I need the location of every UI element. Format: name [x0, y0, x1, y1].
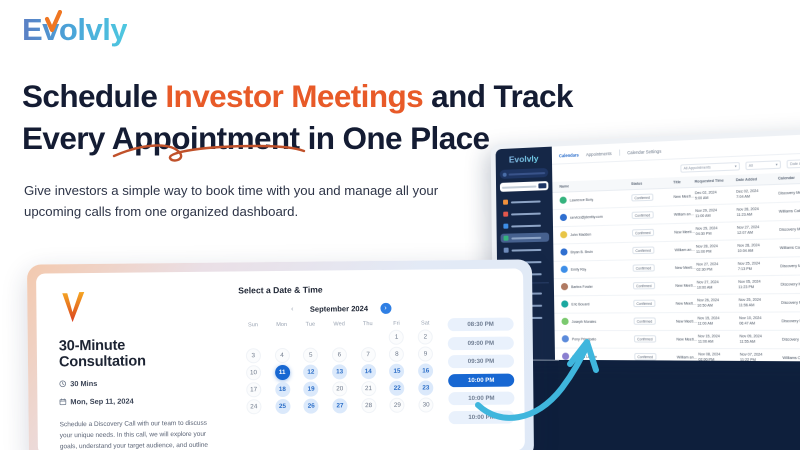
- calendar-day-16[interactable]: 16: [418, 363, 433, 378]
- sidebar-item-calendars[interactable]: [501, 233, 550, 243]
- evolvly-v-mark-icon: [58, 290, 88, 326]
- chevron-down-icon: ▾: [776, 163, 778, 167]
- chevron-right-icon[interactable]: ›: [380, 303, 391, 314]
- status-badge: Confirmed: [632, 212, 654, 220]
- tab-divider: [619, 150, 620, 156]
- cell-status: Confirmed: [634, 353, 677, 361]
- avatar: [560, 231, 567, 238]
- sidebar-item-launchpad[interactable]: [500, 196, 549, 207]
- requested-time: 11:00 PM: [696, 249, 738, 255]
- weekday-label-fri: Fri: [382, 321, 411, 327]
- tab-appointments[interactable]: Appointments: [586, 150, 612, 156]
- cell-name: Bryan B. Bruin: [560, 247, 632, 256]
- calendar-widget: ‹ September 2024 › SunMonTueWedThuFriSat…: [238, 302, 441, 450]
- chevron-left-icon[interactable]: ‹: [287, 304, 298, 315]
- calendar-day-22[interactable]: 22: [390, 381, 405, 396]
- cell-requested-time: Nov 29, 202404:30 PM: [696, 226, 738, 237]
- filter-all[interactable]: All▾: [745, 160, 781, 170]
- cell-requested-time: Nov 26, 202410:50 AM: [697, 298, 739, 308]
- cell-date-added: Nov 28, 202411:23 AM: [737, 207, 779, 218]
- cell-title: William and Bryan B. Bruin: [675, 248, 697, 253]
- row-name-label: John Madden: [570, 232, 591, 237]
- cell-calendar: Williams Calendar: [779, 208, 800, 214]
- tab-calendars[interactable]: Calendars: [559, 152, 579, 158]
- calendar-day-7: 7: [361, 347, 376, 362]
- calendar-day-23[interactable]: 23: [418, 380, 433, 395]
- cell-date-added: Nov 10, 202406:47 AM: [739, 316, 782, 326]
- calendar-day-20: 20: [332, 381, 347, 396]
- calendar-day-19[interactable]: 19: [303, 382, 318, 397]
- cell-name: Emily Ray: [561, 265, 633, 273]
- calendar-weekday-header: SunMonTueWedThuFriSat: [239, 320, 440, 328]
- calendar-day-24: 24: [246, 399, 261, 414]
- table-row[interactable]: Eric BouardConfirmedNew Meeting with Eri…: [554, 293, 800, 313]
- tab-calendar-settings[interactable]: Calendar Settings: [627, 148, 661, 155]
- search-placeholder-bar: [502, 185, 537, 188]
- cell-calendar: Williams Calendar: [780, 245, 800, 250]
- calendar-day-3: 3: [246, 348, 261, 363]
- table-row[interactable]: Barbra FowlerConfirmedNew Meeting with B…: [554, 275, 800, 296]
- avatar: [561, 301, 568, 308]
- avatar: [560, 249, 567, 256]
- cell-status: Confirmed: [634, 318, 677, 325]
- cell-status: Confirmed: [633, 300, 676, 308]
- weekday-label-wed: Wed: [325, 321, 354, 327]
- added-time: 7:13 PM: [738, 266, 780, 272]
- sidebar-item-label: [512, 248, 542, 251]
- cell-calendar: Discovery Meeting: [778, 189, 800, 195]
- cell-title: William and Geremia: [674, 212, 696, 217]
- calendar-day-4: 4: [274, 348, 289, 363]
- account-avatar: [503, 172, 507, 176]
- cell-calendar: Williams Calendar: [782, 355, 800, 360]
- requested-time: 10:00 AM: [697, 285, 739, 290]
- requested-time: 04:30 PM: [696, 231, 737, 237]
- added-time: 10:04 AM: [737, 248, 779, 254]
- select-date-time-label: Select a Date & Time: [238, 283, 513, 296]
- column-header-status[interactable]: Status: [631, 180, 673, 186]
- calendar-month-bar: ‹ September 2024 ›: [238, 302, 439, 315]
- calendar-empty-cell: [274, 331, 289, 346]
- dashboard-screenshot: Evolvly CalendarsAppointmentsCalendar Se…: [491, 128, 800, 362]
- cell-status: Confirmed: [633, 282, 675, 290]
- avatar: [561, 283, 568, 290]
- cell-date-added: Nov 05, 202411:23 PM: [738, 279, 781, 289]
- cell-name: Joseph Morales: [561, 318, 633, 325]
- cell-status: Confirmed: [632, 211, 674, 220]
- cell-requested-time: Nov 15, 202411:00 AM: [698, 334, 740, 344]
- sidebar-item-conversations[interactable]: [500, 220, 549, 230]
- calendar-empty-cell: [332, 330, 347, 345]
- cell-calendar: Discovery Meeting: [779, 226, 800, 232]
- calendar-day-21: 21: [361, 381, 376, 396]
- requested-time: 02:30 PM: [696, 267, 738, 273]
- weekday-label-sat: Sat: [411, 320, 440, 326]
- calendar-icon: [504, 236, 509, 241]
- calendar-day-25[interactable]: 25: [275, 399, 290, 414]
- added-time: 11:56 AM: [739, 303, 781, 308]
- column-header-requested-time[interactable]: Requested Time: [695, 178, 736, 184]
- calendar-day-grid: 1234567891011121314151617181920212223242…: [239, 329, 441, 414]
- calendar-day-5: 5: [303, 348, 318, 363]
- filter-label: All Appointments: [684, 165, 711, 170]
- weekday-label-thu: Thu: [353, 321, 382, 327]
- cell-name: John Madden: [560, 230, 632, 239]
- filter-all-appointments[interactable]: All Appointments▾: [680, 162, 740, 173]
- column-header-date-added[interactable]: Date Added: [736, 176, 778, 182]
- row-name-label: service@jdentity.com: [570, 215, 603, 220]
- cell-title: New Meeting with Joseph Morales: [676, 319, 698, 323]
- cell-status: Confirmed: [632, 229, 674, 237]
- cell-title: New Meeting with Lawrence Bony: [673, 194, 694, 199]
- chevron-down-icon: ▾: [735, 164, 737, 168]
- chat-icon: [503, 224, 508, 229]
- calendar-day-26[interactable]: 26: [304, 399, 319, 414]
- calendar-day-15[interactable]: 15: [389, 364, 404, 379]
- account-switcher[interactable]: [500, 168, 549, 179]
- calendar-day-13[interactable]: 13: [332, 364, 347, 379]
- cell-requested-time: Dec 02, 20245:00 AM: [695, 190, 737, 201]
- cell-requested-time: Nov 28, 202411:00 PM: [696, 244, 738, 255]
- filter-date-added[interactable]: Date Added▾: [786, 158, 800, 168]
- booking-date: Mon, Sep 11, 2024: [59, 396, 215, 407]
- search-shortcut-badge: [538, 183, 546, 188]
- cell-requested-time: Nov 29, 202411:00 AM: [695, 208, 737, 219]
- contacts-icon: [504, 248, 509, 253]
- booking-description: Schedule a Discovery Call with our team …: [60, 418, 211, 450]
- status-badge: Confirmed: [631, 194, 653, 202]
- cell-name: Barbra Fowler: [561, 283, 633, 291]
- sidebar-search-input[interactable]: [500, 181, 549, 192]
- calendar-day-11[interactable]: 11: [275, 365, 290, 380]
- underline-swoosh-icon: [108, 140, 308, 166]
- filter-label: All: [749, 164, 753, 168]
- sidebar-item-dashboard[interactable]: [500, 208, 549, 219]
- cell-status: Confirmed: [631, 193, 673, 202]
- requested-time: 11:00 AM: [698, 339, 740, 344]
- avatar: [560, 197, 567, 204]
- calendar-day-10: 10: [246, 365, 261, 380]
- evolvly-logo: Evolvly: [22, 12, 127, 48]
- cell-title: New Meeting with Emily Ray: [675, 265, 697, 270]
- grid-icon: [503, 212, 508, 217]
- column-header-title[interactable]: Title: [673, 180, 694, 185]
- row-name-label: Lawrence Bony: [570, 198, 594, 203]
- calendar-day-18[interactable]: 18: [275, 382, 290, 397]
- calendar-day-2: 2: [418, 329, 433, 344]
- rocket-icon: [503, 200, 508, 205]
- weekday-label-tue: Tue: [296, 322, 325, 328]
- cell-date-added: Nov 07, 202411:22 PM: [740, 352, 783, 361]
- booking-title: 30-Minute Consultation: [59, 337, 215, 371]
- cell-status: Confirmed: [633, 264, 675, 272]
- status-badge: Confirmed: [633, 265, 655, 273]
- curved-arrow-up-right-icon: [470, 330, 640, 450]
- row-name-label: Joseph Morales: [572, 319, 597, 323]
- cell-requested-time: Nov 27, 202410:00 AM: [697, 280, 739, 290]
- cell-date-added: Nov 25, 202411:56 AM: [739, 298, 782, 308]
- added-time: 11:22 PM: [740, 357, 783, 361]
- dashboard-main: CalendarsAppointmentsCalendar Settings A…: [552, 133, 800, 362]
- avatar: [561, 266, 568, 273]
- cell-calendar: Discovery Meeting: [781, 300, 800, 305]
- added-time: 11:23 AM: [737, 212, 779, 218]
- row-name-label: Barbra Fowler: [571, 285, 593, 289]
- headline-part1: Schedule: [22, 78, 165, 114]
- cell-date-added: Nov 09, 202411:55 AM: [739, 334, 782, 344]
- sidebar-item-label: [511, 212, 541, 215]
- row-name-label: Eric Bouard: [571, 302, 589, 306]
- requested-time: 11:00 AM: [695, 213, 736, 219]
- added-time: 11:55 AM: [740, 339, 783, 344]
- cell-calendar: Discovery Meeting: [780, 263, 800, 268]
- cell-title: New Meeting with Barbra Fowler: [675, 283, 697, 287]
- cell-calendar: Discovery Meeting: [781, 281, 800, 286]
- booking-details-pane: 30-Minute Consultation 30 Mins Mon, Sep …: [36, 272, 232, 450]
- cell-requested-time: Nov 08, 202402:00 PM: [698, 352, 740, 361]
- avatar: [560, 214, 567, 221]
- avatar: [561, 318, 568, 325]
- calendar-day-27[interactable]: 27: [332, 398, 347, 413]
- calendar-empty-cell: [360, 330, 375, 345]
- filter-label: Date Added: [790, 161, 800, 166]
- status-badge: Confirmed: [632, 247, 654, 255]
- cell-date-added: Nov 28, 202410:04 AM: [737, 243, 779, 254]
- calendar-day-8: 8: [389, 347, 404, 362]
- cell-date-added: Dec 02, 20247:04 AM: [736, 189, 778, 200]
- booking-duration-label: 30 Mins: [70, 379, 97, 388]
- cell-requested-time: Nov 15, 202411:00 AM: [697, 316, 739, 326]
- cell-title: New Meeting with Pony Principato: [676, 337, 698, 341]
- added-time: 11:23 PM: [738, 284, 780, 289]
- hero-subtext: Give investors a simple way to book time…: [24, 180, 454, 223]
- sidebar-item-label: [511, 200, 541, 203]
- headline-part2: and Track: [423, 78, 573, 114]
- cell-requested-time: Nov 27, 202402:30 PM: [696, 262, 738, 272]
- cell-calendar: Discovery Meeting: [782, 337, 800, 341]
- cell-name: service@jdentity.com: [560, 212, 632, 221]
- weekday-label-sun: Sun: [239, 322, 268, 328]
- calendar-day-9: 9: [418, 346, 433, 361]
- calendar-day-17: 17: [246, 382, 261, 397]
- added-time: 12:07 AM: [737, 230, 779, 236]
- calendar-day-30: 30: [419, 397, 434, 412]
- status-badge: Confirmed: [633, 282, 655, 290]
- sidebar-item-contacts[interactable]: [501, 245, 550, 255]
- calendar-day-14[interactable]: 14: [361, 364, 376, 379]
- status-badge: Confirmed: [633, 300, 655, 307]
- weekday-label-mon: Mon: [267, 322, 296, 328]
- calendar-day-29: 29: [390, 398, 405, 413]
- calendar-month-label: September 2024: [310, 304, 368, 314]
- cell-title: William and Carolina Lepore: [677, 355, 699, 359]
- cell-name: Eric Bouard: [561, 300, 633, 308]
- status-badge: Confirmed: [632, 229, 654, 237]
- booking-duration: 30 Mins: [59, 378, 215, 389]
- requested-time: 10:50 AM: [697, 303, 739, 308]
- column-header-name[interactable]: Name: [559, 182, 631, 189]
- column-header-calendar[interactable]: Calendar: [778, 174, 800, 180]
- cell-name: Lawrence Bony: [560, 195, 632, 205]
- calendar-icon: [59, 398, 66, 405]
- requested-time: 11:00 AM: [698, 321, 740, 326]
- calendar-empty-cell: [246, 331, 261, 346]
- cell-status: Confirmed: [634, 335, 677, 342]
- status-badge: Confirmed: [634, 318, 656, 325]
- calendar-empty-cell: [303, 331, 318, 346]
- cell-calendar: Discovery Meeting: [781, 319, 800, 324]
- requested-time: 5:00 AM: [695, 195, 736, 201]
- calendar-day-6: 6: [332, 347, 347, 362]
- calendar-day-1: 1: [389, 330, 404, 345]
- booking-date-label: Mon, Sep 11, 2024: [70, 397, 133, 407]
- added-time: 7:04 AM: [736, 193, 778, 199]
- calendar-day-12[interactable]: 12: [303, 365, 318, 380]
- row-name-label: Bryan B. Bruin: [571, 250, 593, 255]
- clock-icon: [59, 380, 66, 387]
- sidebar-item-label: [511, 236, 541, 239]
- calendar-day-28: 28: [361, 398, 376, 413]
- cell-title: New Meeting with John Madden: [674, 230, 696, 235]
- row-name-label: Emily Ray: [571, 267, 587, 271]
- table-row[interactable]: Joseph MoralesConfirmedNew Meeting with …: [554, 312, 800, 331]
- cell-title: New Meeting with Eric Bouard: [676, 301, 698, 305]
- sidebar-item-label: [511, 224, 541, 227]
- booking-widget-frame: 30-Minute Consultation 30 Mins Mon, Sep …: [27, 259, 534, 450]
- headline-accent: Investor Meetings: [165, 78, 423, 114]
- dashboard-logo: Evolvly: [500, 153, 548, 165]
- added-time: 06:47 AM: [739, 321, 782, 326]
- cell-status: Confirmed: [632, 246, 674, 254]
- account-name-placeholder: [509, 172, 546, 176]
- cell-date-added: Nov 25, 20247:13 PM: [738, 261, 781, 272]
- cell-date-added: Nov 27, 202412:07 AM: [737, 225, 779, 236]
